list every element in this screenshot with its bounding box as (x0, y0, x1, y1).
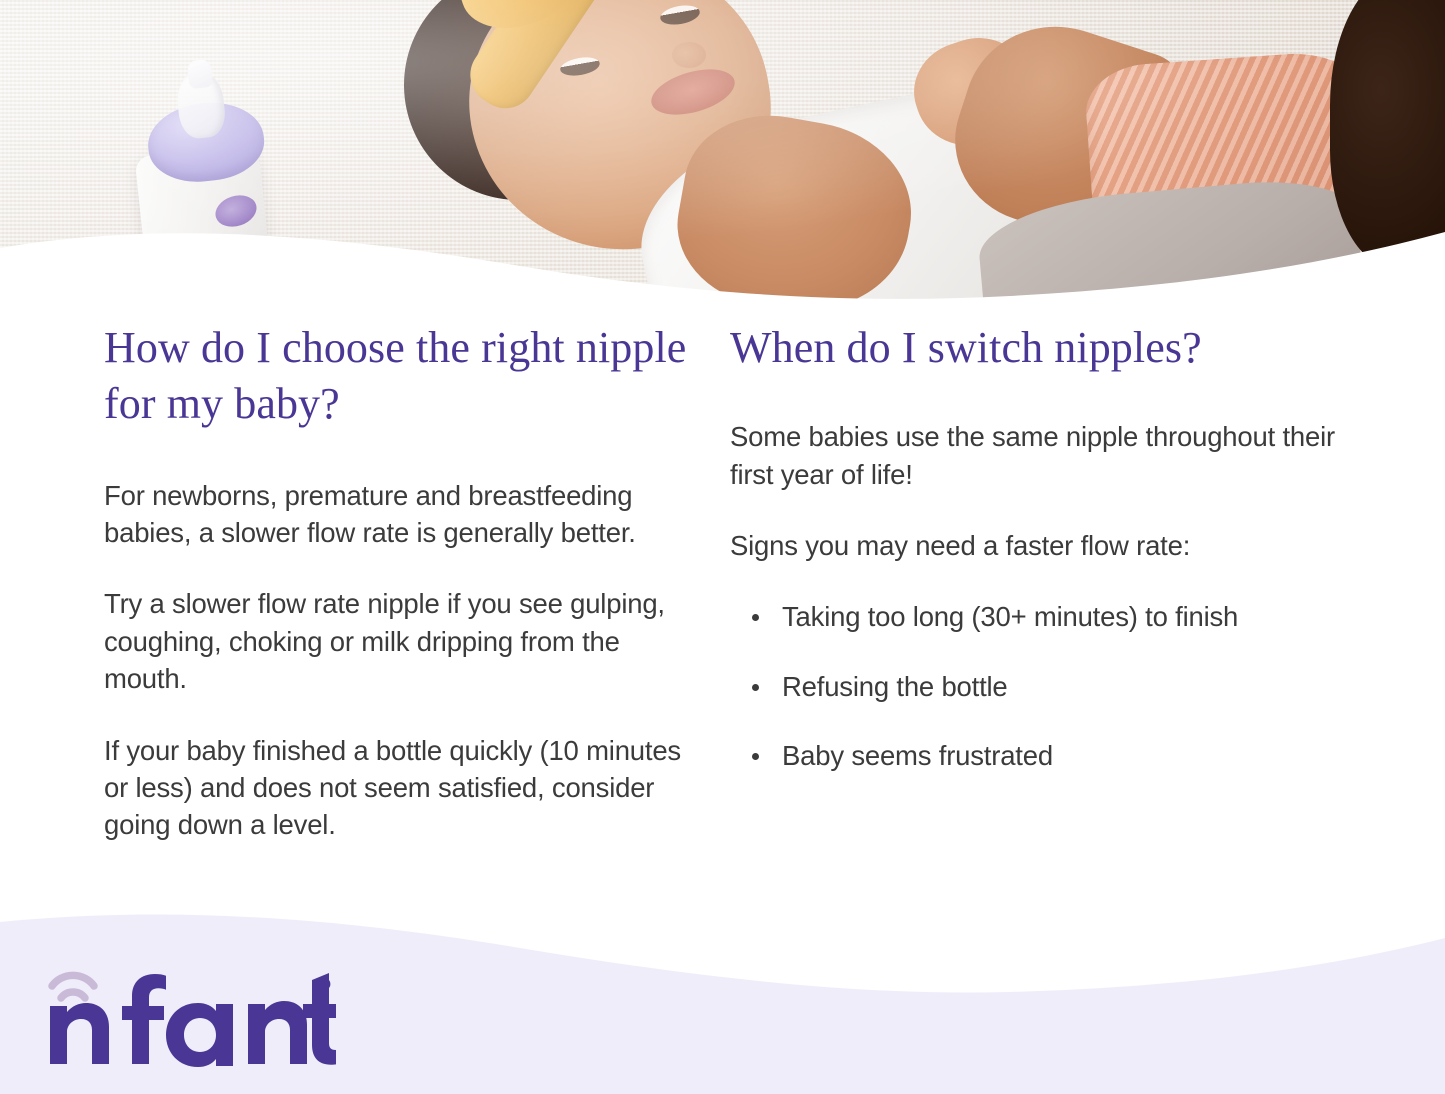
infographic-page: How do I choose the right nipple for my … (0, 0, 1445, 1094)
paragraph-same-nipple-first-year: Some babies use the same nipple througho… (730, 418, 1375, 493)
bullet-dot-icon (752, 684, 759, 691)
hero-photo (0, 0, 1445, 300)
adult-hair (1330, 0, 1445, 270)
paragraph-try-slower-flow-signs: Try a slower flow rate nipple if you see… (104, 585, 694, 697)
list-item-label: Taking too long (30+ minutes) to finish (782, 601, 1238, 632)
signs-bullet-list: Taking too long (30+ minutes) to finish … (730, 598, 1375, 774)
list-item-label: Refusing the bottle (782, 671, 1008, 702)
paragraph-newborns-slower-flow: For newborns, premature and breastfeedin… (104, 477, 694, 552)
list-item: Baby seems frustrated (730, 737, 1375, 774)
hero-photo-section (0, 0, 1445, 300)
bullet-dot-icon (752, 614, 759, 621)
column-switch-nipples: When do I switch nipples? Some babies us… (730, 300, 1445, 844)
bottle-nipple-tip-icon (187, 59, 214, 89)
list-item: Refusing the bottle (730, 668, 1375, 705)
column-choose-nipple: How do I choose the right nipple for my … (0, 300, 730, 844)
paragraph-signs-faster-flow: Signs you may need a faster flow rate: (730, 527, 1375, 564)
nfant-logo-svg[interactable] (46, 960, 336, 1070)
heading-when-do-i-switch: When do I switch nipples? (730, 320, 1375, 376)
nfant-logo[interactable] (46, 960, 336, 1070)
content-columns: How do I choose the right nipple for my … (0, 300, 1445, 844)
list-item-label: Baby seems frustrated (782, 740, 1053, 771)
heading-how-do-i-choose: How do I choose the right nipple for my … (104, 320, 694, 433)
baby-nose (672, 42, 706, 68)
bullet-dot-icon (752, 753, 759, 760)
wifi-signal-arcs-icon (52, 975, 94, 998)
list-item: Taking too long (30+ minutes) to finish (730, 598, 1375, 635)
paragraph-finished-quickly-go-down: If your baby finished a bottle quickly (… (104, 732, 694, 844)
footer-band (0, 880, 1445, 1094)
